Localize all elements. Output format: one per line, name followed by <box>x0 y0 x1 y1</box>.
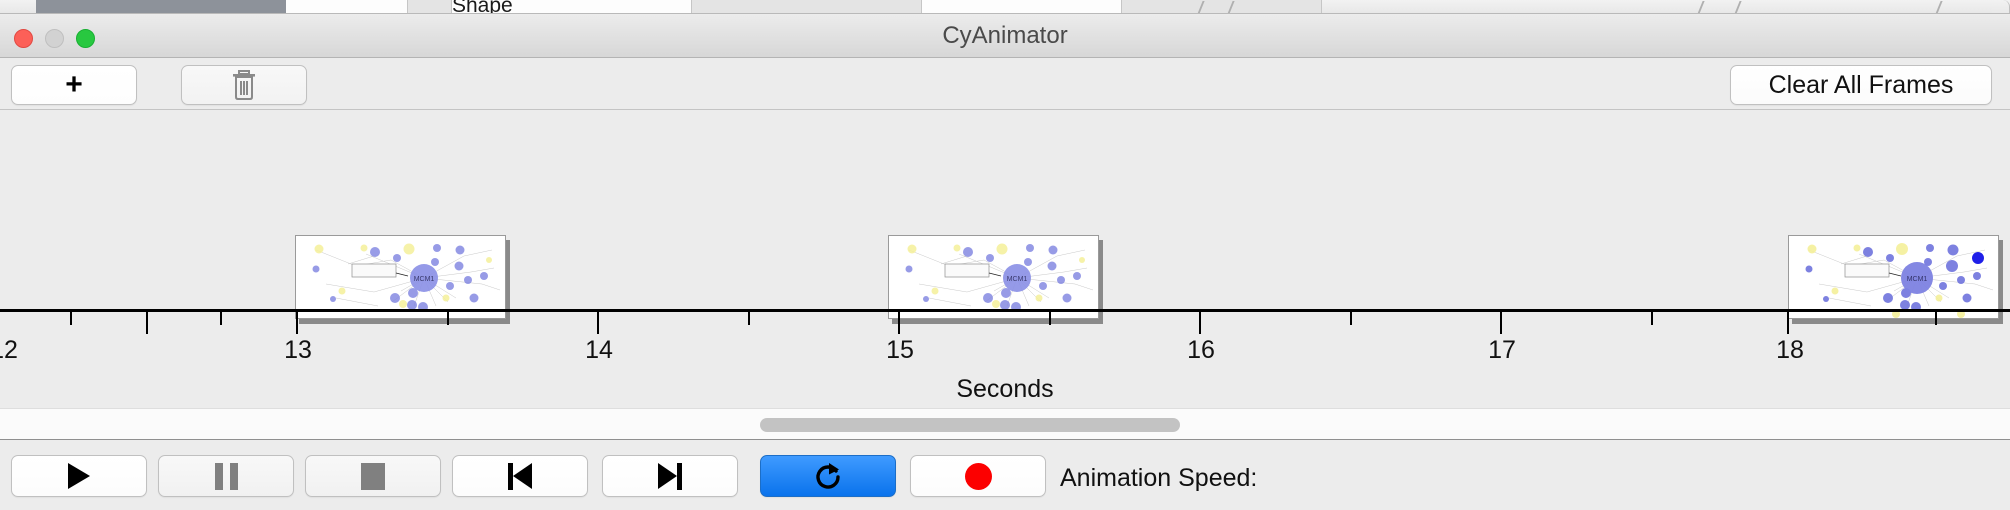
background-window-corner <box>1992 0 2010 14</box>
svg-text:MCM1: MCM1 <box>414 276 435 283</box>
axis-title: Seconds <box>0 375 2010 404</box>
title-bar[interactable]: CyAnimator <box>0 14 2010 58</box>
axis-tick-major <box>898 312 900 334</box>
axis-tick-minor <box>1651 312 1653 325</box>
play-icon <box>68 463 90 489</box>
pause-button[interactable] <box>158 455 294 497</box>
axis-tick-minor <box>220 312 222 325</box>
axis-tick-major <box>1787 312 1789 334</box>
background-cell <box>692 0 922 14</box>
play-button[interactable] <box>11 455 147 497</box>
background-cell <box>922 0 1122 14</box>
axis-tick-minor <box>1350 312 1352 325</box>
axis-tick-label: 16 <box>1187 336 1215 365</box>
skip-forward-icon <box>658 463 682 490</box>
axis-tick-label: 12 <box>0 336 18 365</box>
window-title: CyAnimator <box>0 14 2010 58</box>
toolbar: + Clear All Frames <box>0 58 2010 110</box>
plus-icon: + <box>65 70 83 100</box>
axis-tick-major <box>1500 312 1502 334</box>
axis-tick-minor <box>70 312 72 325</box>
background-cell <box>286 0 408 14</box>
trash-icon <box>231 70 257 100</box>
axis-tick-label: 17 <box>1488 336 1516 365</box>
clear-all-frames-button[interactable]: Clear All Frames <box>1730 65 1992 105</box>
previous-frame-button[interactable] <box>452 455 588 497</box>
background-cell <box>1122 0 1322 14</box>
axis-tick-major <box>1199 312 1201 334</box>
loop-icon <box>813 461 843 491</box>
axis-tick-major <box>597 312 599 334</box>
timeline-axis-line <box>0 309 2010 312</box>
axis-tick-minor <box>1935 312 1937 325</box>
background-tick <box>1734 1 1741 14</box>
background-tick <box>1697 1 1704 14</box>
pause-icon <box>215 463 238 490</box>
background-window-label: Shape <box>452 0 513 14</box>
stop-button[interactable] <box>305 455 441 497</box>
loop-button[interactable] <box>760 455 896 497</box>
background-selected-row <box>36 0 286 14</box>
scrollbar-thumb[interactable] <box>760 418 1180 432</box>
animation-speed-label: Animation Speed: <box>1060 464 1257 493</box>
stop-icon <box>361 463 385 490</box>
svg-text:MCM1: MCM1 <box>1007 276 1028 283</box>
delete-frame-button[interactable] <box>181 65 307 105</box>
axis-tick-minor <box>748 312 750 325</box>
axis-tick-label: 13 <box>284 336 312 365</box>
transport-bar: Animation Speed: <box>0 441 2010 510</box>
frame-thumbnail[interactable]: MCM1 <box>888 235 1099 319</box>
background-window-strip: Shape <box>0 0 2010 14</box>
background-cell <box>408 0 452 14</box>
axis-tick-label: 18 <box>1776 336 1804 365</box>
timeline-horizontal-scrollbar[interactable] <box>0 408 2010 440</box>
axis-tick-major <box>146 312 148 334</box>
skip-back-icon <box>508 463 532 490</box>
axis-tick-major <box>296 312 298 334</box>
axis-tick-minor <box>447 312 449 325</box>
record-icon <box>965 463 992 490</box>
frame-thumbnail[interactable]: MCM1 <box>1788 235 1999 319</box>
timeline-panel[interactable]: MCM1 <box>0 111 2010 408</box>
next-frame-button[interactable] <box>602 455 738 497</box>
svg-text:MCM1: MCM1 <box>1907 276 1928 283</box>
axis-tick-label: 14 <box>585 336 613 365</box>
add-frame-button[interactable]: + <box>11 65 137 105</box>
background-tick <box>1935 1 1942 14</box>
axis-tick-minor <box>1049 312 1051 325</box>
record-button[interactable] <box>910 455 1046 497</box>
axis-tick-label: 15 <box>886 336 914 365</box>
frame-thumbnail[interactable]: MCM1 <box>295 235 506 319</box>
